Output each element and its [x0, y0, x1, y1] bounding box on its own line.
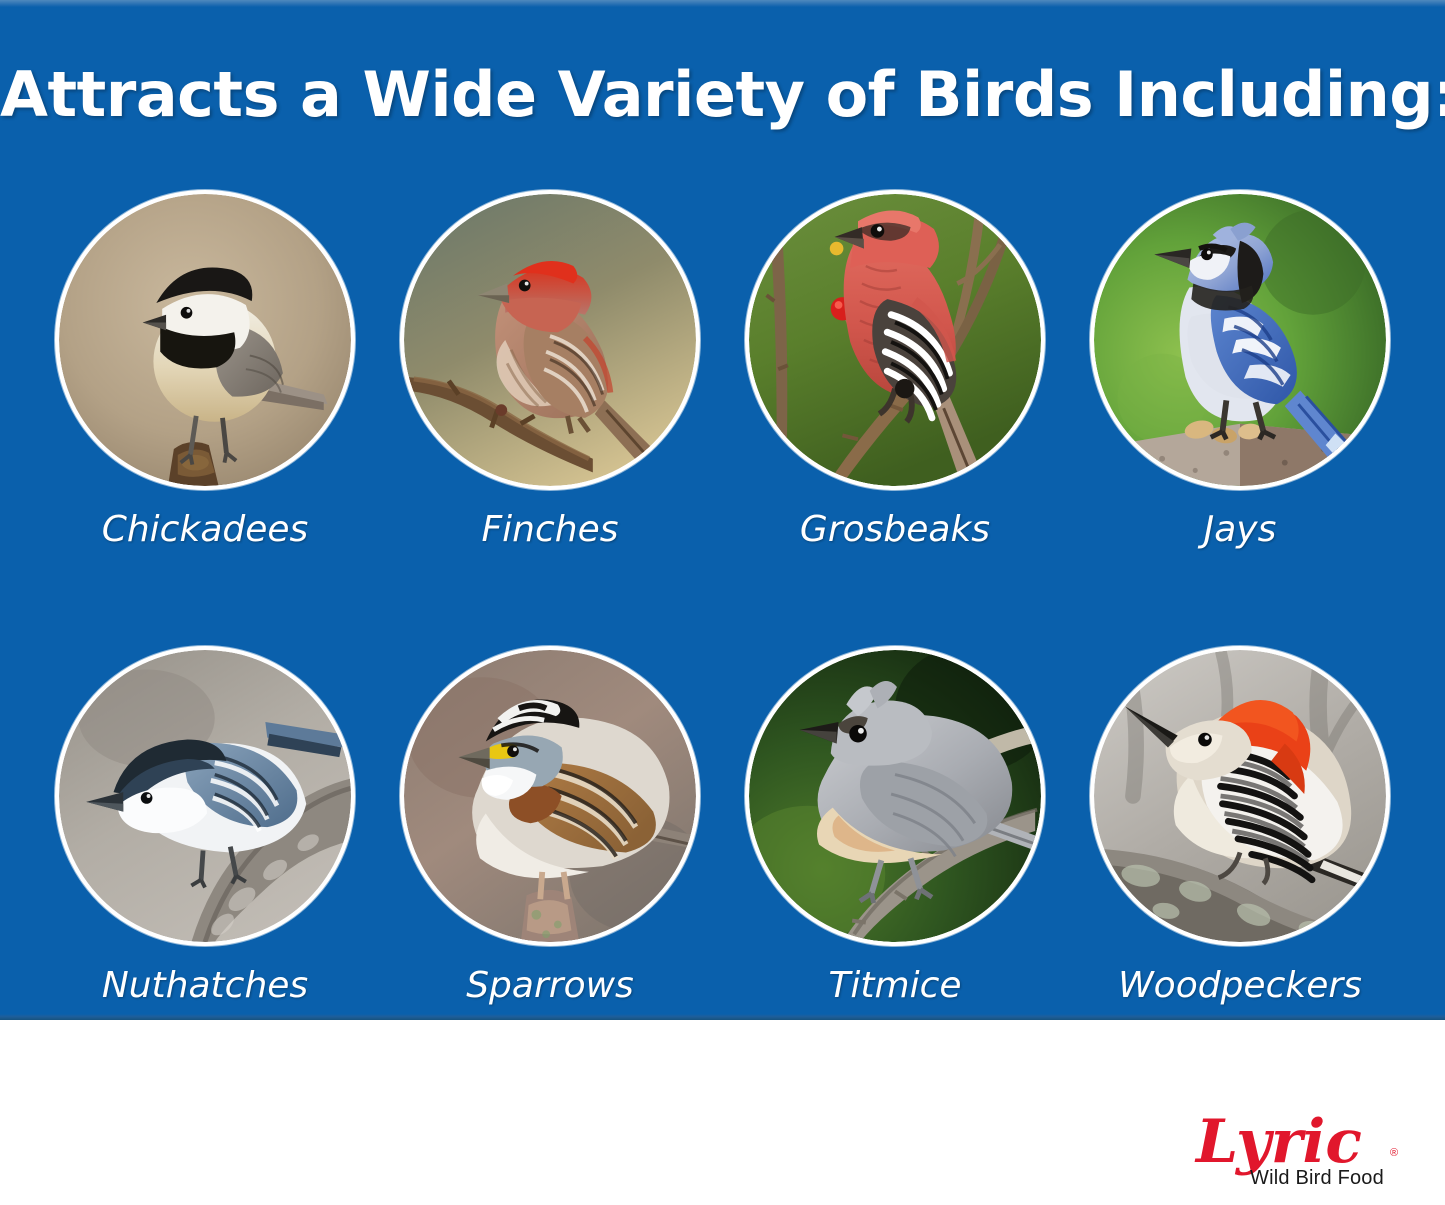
blue-panel: Attracts a Wide Variety of Birds Includi…: [0, 0, 1445, 1020]
bird-label: Finches: [481, 512, 618, 548]
bird-grid-row: Chickadees: [0, 190, 1445, 548]
bird-photo-woodpecker: [1090, 646, 1390, 946]
bird-cell-grosbeaks: Grosbeaks: [745, 190, 1045, 548]
bird-photo-nuthatch: [55, 646, 355, 946]
bird-cell-jays: Jays: [1090, 190, 1390, 548]
bird-photo-jay: [1090, 190, 1390, 490]
bird-photo-grosbeak: [745, 190, 1045, 490]
bird-label: Nuthatches: [102, 968, 308, 1004]
bird-cell-finches: Finches: [400, 190, 700, 548]
bird-label: Grosbeaks: [800, 512, 990, 548]
page-title: Attracts a Wide Variety of Birds Includi…: [0, 62, 1445, 127]
brand-tagline: Wild Bird Food: [1250, 1167, 1384, 1189]
bird-photo-finch: [400, 190, 700, 490]
bird-grid: Chickadees: [0, 190, 1445, 1004]
bird-cell-titmice: Titmice: [745, 646, 1045, 1004]
bird-cell-nuthatches: Nuthatches: [55, 646, 355, 1004]
footer: Lyric ® Wild Bird Food: [0, 1020, 1445, 1205]
bird-label: Chickadees: [102, 512, 309, 548]
bird-cell-chickadees: Chickadees: [55, 190, 355, 548]
registered-trademark-icon: ®: [1390, 1147, 1398, 1159]
bird-cell-woodpeckers: Woodpeckers: [1090, 646, 1390, 1004]
bird-photo-chickadee: [55, 190, 355, 490]
bird-label: Sparrows: [466, 968, 634, 1004]
bird-photo-titmouse: [745, 646, 1045, 946]
bird-photo-sparrow: [400, 646, 700, 946]
bird-grid-row: Nuthatches: [0, 646, 1445, 1004]
bird-label: Jays: [1204, 512, 1277, 548]
bird-label: Woodpeckers: [1118, 968, 1362, 1004]
panel-top-edge: [0, 0, 1445, 7]
product-infographic-page: Attracts a Wide Variety of Birds Includi…: [0, 0, 1445, 1205]
bird-cell-sparrows: Sparrows: [400, 646, 700, 1004]
lyric-brand-logo: Lyric ® Wild Bird Food: [1194, 1112, 1409, 1192]
bird-label: Titmice: [828, 968, 961, 1004]
